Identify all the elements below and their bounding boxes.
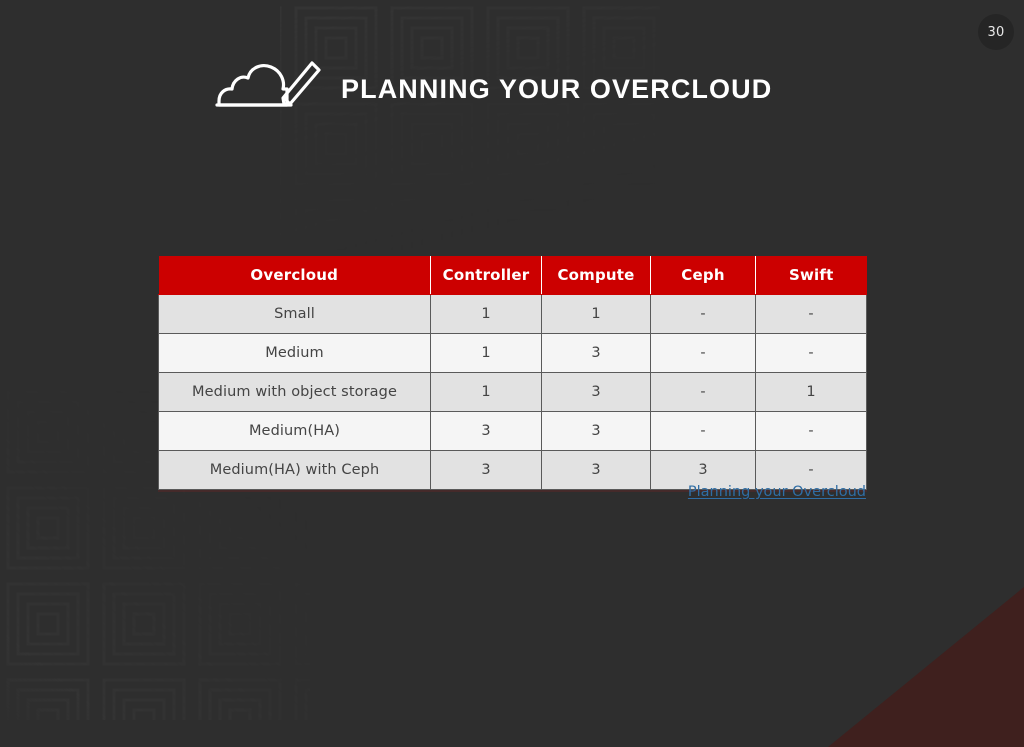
table-header: Overcloud Controller Compute Ceph Swift <box>159 256 867 295</box>
table-body: Small 1 1 - - Medium 1 3 - - Medium with… <box>159 295 867 490</box>
cell-swift: - <box>756 295 867 334</box>
cell-overcloud: Medium with object storage <box>159 373 431 412</box>
corner-accent-triangle <box>828 587 1024 747</box>
source-link[interactable]: Planning your Overcloud <box>688 484 866 500</box>
cell-ceph: - <box>651 334 756 373</box>
page-title: PLANNING YOUR OVERCLOUD <box>341 76 772 103</box>
cell-controller: 3 <box>431 412 542 451</box>
cell-overcloud: Medium <box>159 334 431 373</box>
cell-controller: 1 <box>431 373 542 412</box>
overcloud-table-container: Overcloud Controller Compute Ceph Swift … <box>158 256 866 490</box>
cell-ceph: - <box>651 412 756 451</box>
slide-root: 30 PLANNING YOUR OVERCLOUD Overcloud <box>0 0 1024 747</box>
overcloud-table: Overcloud Controller Compute Ceph Swift … <box>158 256 867 490</box>
cell-swift: 1 <box>756 373 867 412</box>
table-header-row: Overcloud Controller Compute Ceph Swift <box>159 256 867 295</box>
cell-compute: 3 <box>542 412 651 451</box>
column-header-overcloud: Overcloud <box>159 256 431 295</box>
slide-header: PLANNING YOUR OVERCLOUD <box>213 60 772 114</box>
column-header-controller: Controller <box>431 256 542 295</box>
table-row: Medium with object storage 1 3 - 1 <box>159 373 867 412</box>
cell-swift: - <box>756 412 867 451</box>
cell-swift: - <box>756 334 867 373</box>
cell-overcloud: Medium(HA) <box>159 412 431 451</box>
column-header-compute: Compute <box>542 256 651 295</box>
cell-compute: 1 <box>542 295 651 334</box>
cell-controller: 1 <box>431 295 542 334</box>
cell-compute: 3 <box>542 334 651 373</box>
table-row: Small 1 1 - - <box>159 295 867 334</box>
table-row: Medium(HA) 3 3 - - <box>159 412 867 451</box>
cell-overcloud: Small <box>159 295 431 334</box>
page-number-badge: 30 <box>978 14 1014 50</box>
column-header-ceph: Ceph <box>651 256 756 295</box>
cell-controller: 1 <box>431 334 542 373</box>
cell-ceph: - <box>651 373 756 412</box>
cell-compute: 3 <box>542 373 651 412</box>
cell-ceph: - <box>651 295 756 334</box>
source-link-container: Planning your Overcloud <box>158 484 866 500</box>
table-row: Medium 1 3 - - <box>159 334 867 373</box>
cloud-pencil-icon <box>213 60 323 114</box>
column-header-swift: Swift <box>756 256 867 295</box>
